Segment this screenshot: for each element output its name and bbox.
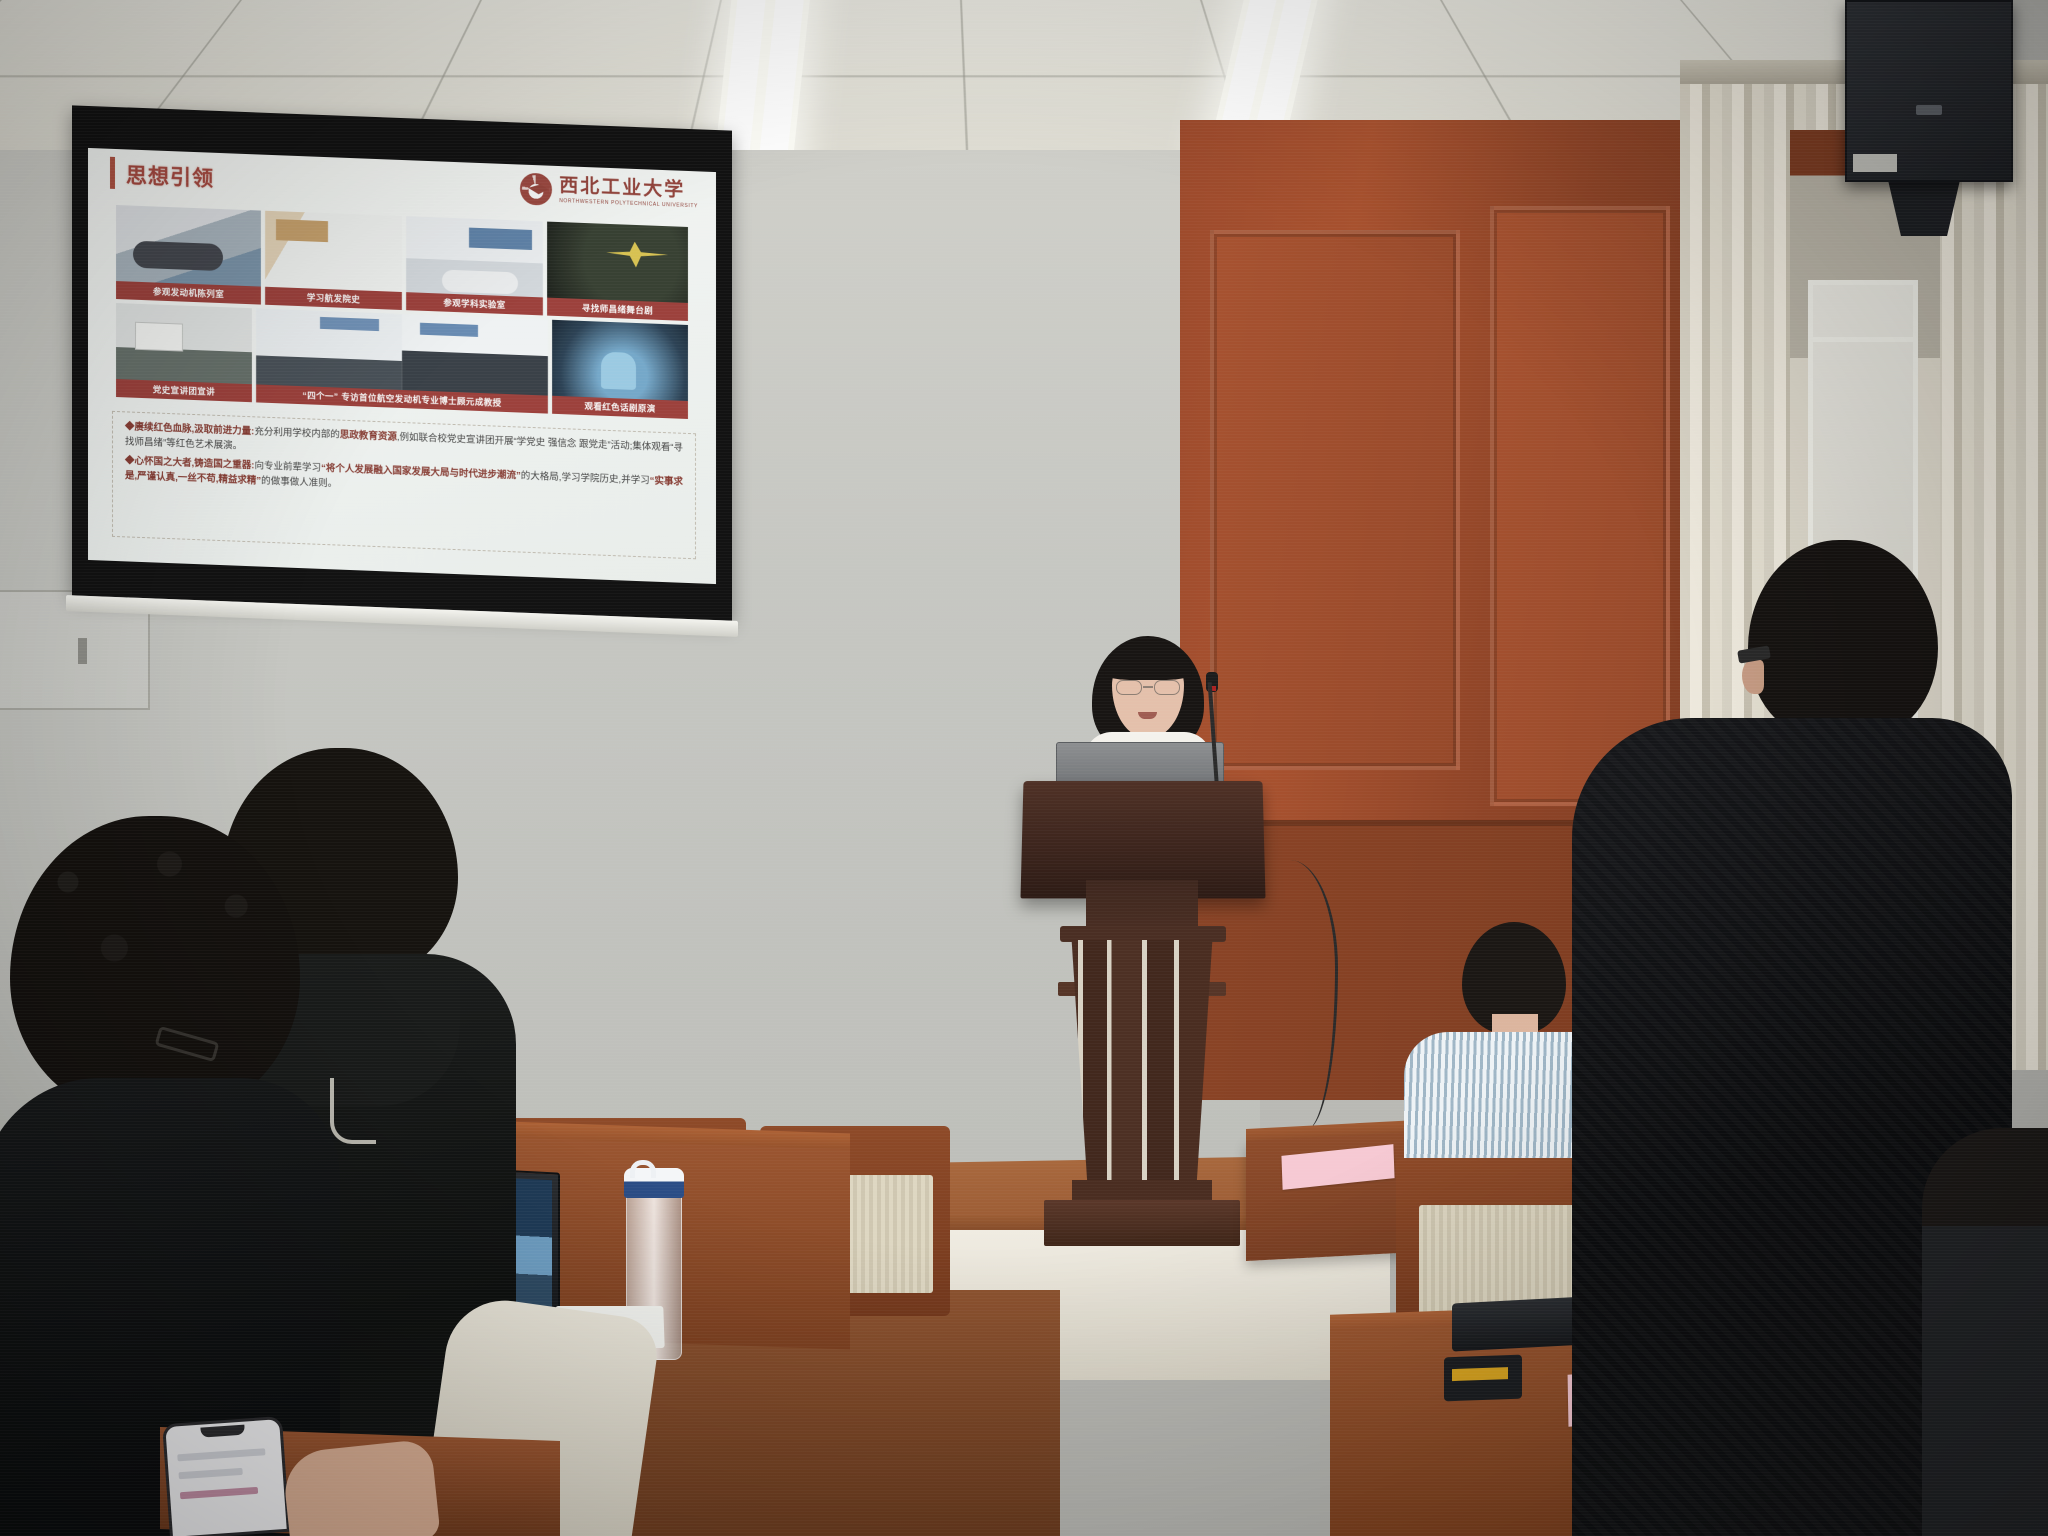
photo-image (116, 205, 261, 287)
photo-cell: 参观发动机陈列室 (116, 205, 261, 305)
bullet-text: 的做事做人准则。 (261, 476, 337, 490)
bullet-lead: ◆心怀国之大者,铸造国之重器: (125, 456, 254, 472)
bullet-text: 活动;集体观看 (611, 440, 671, 453)
photo-row-1: 参观发动机陈列室 学习航发院史 参观学科实验室 寻找师昌绪舞台剧 (116, 205, 688, 321)
bottle-handle (630, 1160, 656, 1178)
smartphone[interactable] (162, 1416, 290, 1536)
black-folder-device[interactable] (1452, 1296, 1588, 1351)
audience-far-right (1922, 1128, 2048, 1536)
slide-accent-bar (110, 157, 115, 189)
photo-image (547, 222, 688, 303)
phone-notch (200, 1425, 245, 1438)
wood-panel-1 (1210, 230, 1460, 770)
university-logo: 西北工业大学 NORTHWESTERN POLYTECHNICAL UNIVER… (520, 173, 698, 212)
podium-foot (1044, 1200, 1240, 1246)
slide-title: 思想引领 (126, 159, 214, 192)
slide-photo-grid: 参观发动机陈列室 学习航发院史 参观学科实验室 寻找师昌绪舞台剧 (116, 205, 688, 423)
university-emblem-icon (520, 173, 552, 206)
head (1748, 540, 1938, 740)
photo-image (402, 314, 548, 396)
speaker-label (1853, 154, 1897, 172)
bullet-highlight: “将个人发展融入国家发展大局与时代进步潮流” (321, 463, 521, 482)
photo-cell: 党史宣讲团宣讲 (116, 303, 252, 402)
slide-bullet-box: ◆赓续红色血脉,汲取前进力量:充分利用学校内部的思政教育资源,例如联合校党史宣讲… (112, 411, 696, 559)
podium-collar (1060, 926, 1226, 942)
bullet-text: ,例如联合校党史宣讲团开展 (397, 432, 514, 447)
photo-row-2: 党史宣讲团宣讲 “四个一” 专访首位航空发动机专业博士顾元成教授 观看红色话剧原… (116, 303, 688, 419)
glasses-icon (1114, 680, 1182, 696)
bullet-lead: ◆赓续红色血脉,汲取前进力量: (125, 421, 254, 437)
photo-image (552, 320, 688, 401)
lecture-room-photo: 思想引领 西北工业大学 NORTHWESTERN POLYTECHNICAL U… (0, 0, 2048, 1536)
photo-cell: 参观学科实验室 (406, 216, 543, 315)
bullet-text: 等红色艺术展演。 (166, 438, 242, 452)
photo-image (265, 211, 402, 292)
photo-cell: 寻找师昌绪舞台剧 (547, 222, 688, 321)
bullet-text: 充分利用学校内部的 (254, 426, 340, 440)
podium-neck (1086, 880, 1198, 932)
bullet-text: 的大格局,学习学院历史,并学习 (521, 471, 650, 487)
university-name-cn: 西北工业大学 (559, 176, 698, 200)
photo-image (116, 303, 252, 384)
bullet-highlight: 思政教育资源 (340, 430, 397, 443)
bullet-quote: “学党史 强信念 跟党走” (514, 436, 611, 451)
hood-drawstring (330, 1078, 376, 1144)
slide: 思想引领 西北工业大学 NORTHWESTERN POLYTECHNICAL U… (88, 148, 716, 584)
bullet-text: 向专业前辈学习 (254, 461, 321, 475)
photo-cell: 观看红色话剧原演 (552, 320, 688, 419)
remote-control[interactable] (1444, 1355, 1522, 1402)
power-cable (1258, 860, 1338, 1130)
wall-speaker-icon (1845, 0, 2013, 182)
photo-image (406, 216, 543, 297)
podium-column (1062, 940, 1222, 1188)
photo-cell-wide: “四个一” 专访首位航空发动机专业博士顾元成教授 (256, 308, 548, 413)
photo-image (256, 308, 402, 390)
projection-screen: 思想引领 西北工业大学 NORTHWESTERN POLYTECHNICAL U… (72, 105, 732, 620)
head (10, 816, 300, 1116)
ear (1742, 660, 1764, 694)
photo-cell: 学习航发院史 (265, 211, 402, 310)
